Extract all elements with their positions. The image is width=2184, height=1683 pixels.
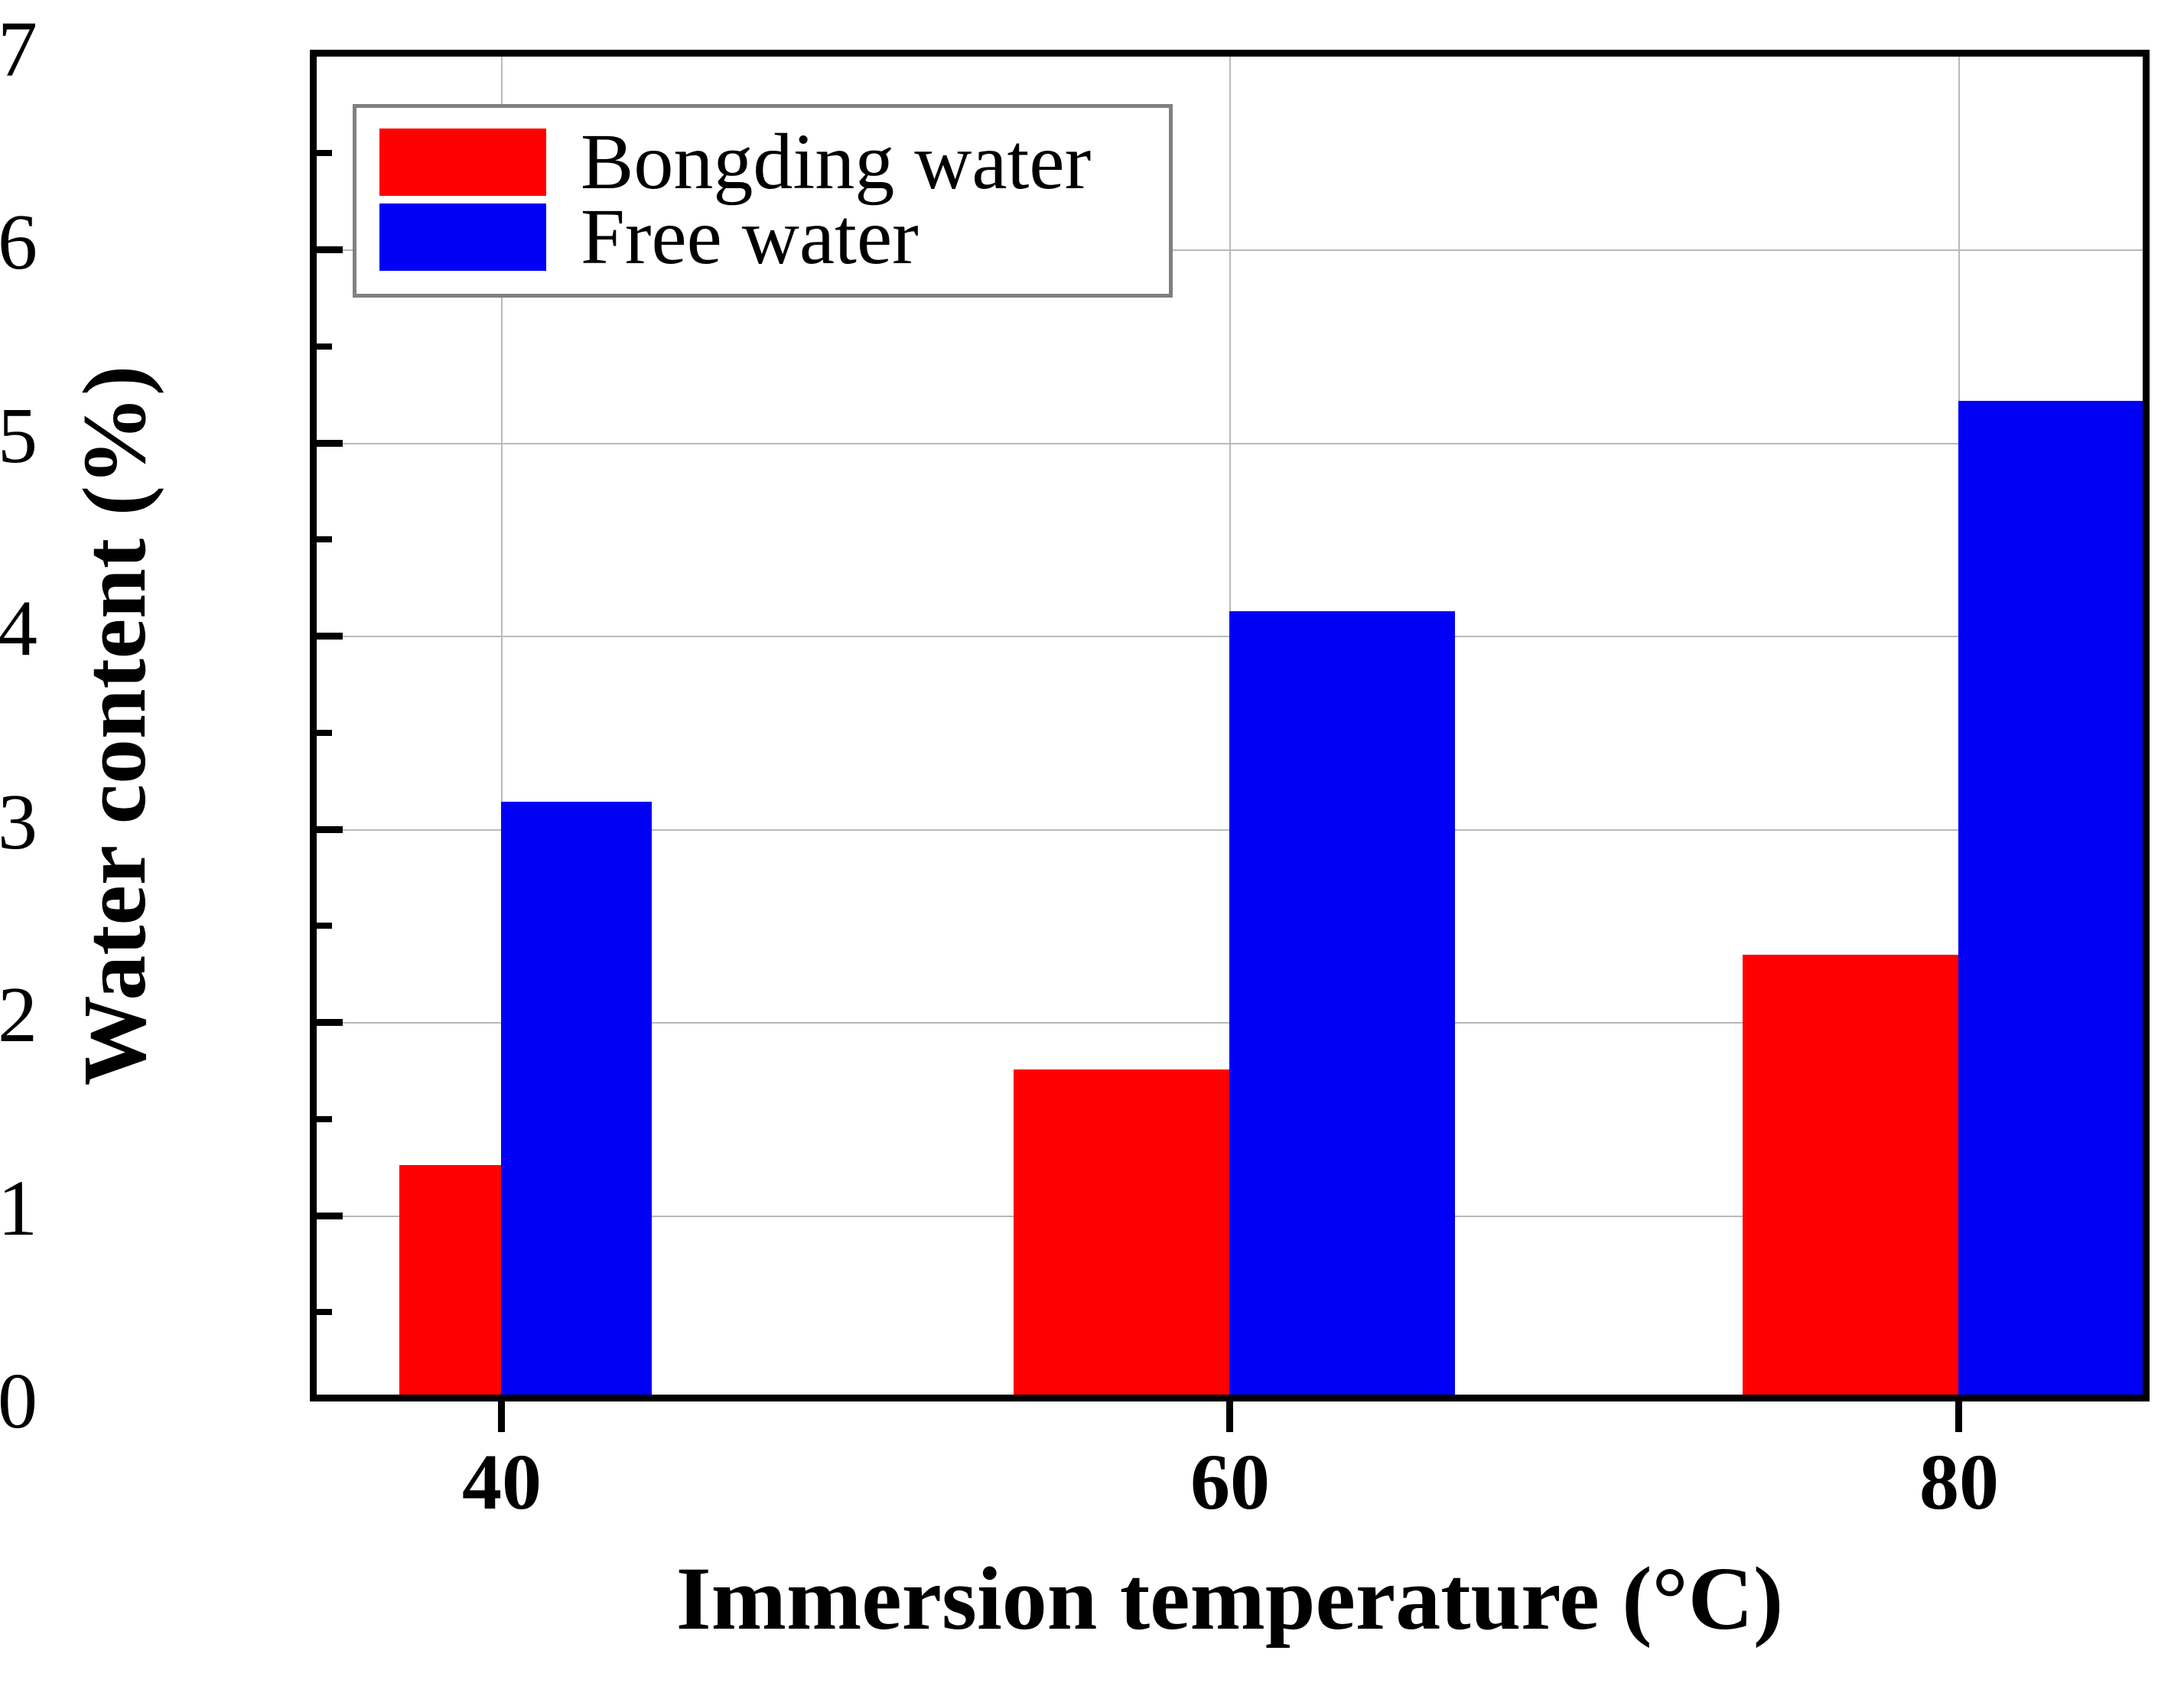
legend-label-bonding-water: Bongding water — [581, 122, 1091, 202]
x-axis-title: Immersion temperature (°C) — [310, 1547, 2150, 1651]
plot-area: Bongding water Free water — [310, 50, 2150, 1401]
y-tick-mark-0.5 — [317, 440, 343, 447]
bar-bonding-water-60 — [1014, 1069, 1229, 1395]
x-tick-80 — [1955, 1401, 1962, 1432]
red-swatch-icon — [379, 129, 546, 196]
bar-free-water-40 — [501, 802, 652, 1395]
y-tick-mark-0.6 — [317, 246, 343, 253]
y-tick-label-0.7: 0.7 — [0, 10, 37, 90]
y-tick-label-0.4: 0.4 — [0, 589, 37, 669]
x-tick-label-40: 40 — [462, 1443, 542, 1522]
y-axis-title: Water content (%) — [57, 50, 172, 1401]
y-tick-mark-0.2 — [317, 1019, 343, 1026]
y-tick-label-0.0: 0.0 — [0, 1362, 37, 1441]
y-tick-mark-0.4 — [317, 633, 343, 640]
plot-inner: Bongding water Free water — [317, 57, 2143, 1395]
y-tick-label-0.1: 0.1 — [0, 1169, 37, 1248]
y-tick-label-0.5: 0.5 — [0, 396, 37, 476]
bar-bonding-water-40 — [399, 1165, 501, 1395]
y-tick-label-0.2: 0.2 — [0, 975, 37, 1055]
y-tick-mark-0.35 — [317, 730, 332, 736]
x-tick-40 — [498, 1401, 505, 1432]
legend-item-bonding-water: Bongding water — [379, 125, 1169, 200]
y-tick-mark-0.25 — [317, 923, 332, 929]
y-tick-mark-0.05 — [317, 1309, 332, 1315]
chart-figure: Water content (%) 0.7 0.6 0.5 0.4 0.3 0.… — [0, 0, 2184, 1683]
blue-swatch-icon — [379, 203, 546, 271]
bar-free-water-80 — [1958, 401, 2143, 1395]
y-tick-mark-0.15 — [317, 1116, 332, 1122]
bar-free-water-60 — [1229, 611, 1455, 1395]
x-tick-label-80: 80 — [1919, 1443, 1999, 1522]
bar-bonding-water-80 — [1743, 955, 1958, 1395]
y-tick-label-0.6: 0.6 — [0, 203, 37, 282]
y-tick-mark-0.45 — [317, 536, 332, 542]
y-tick-label-0.3: 0.3 — [0, 783, 37, 862]
y-tick-mark-0.55 — [317, 343, 332, 350]
x-tick-label-60: 60 — [1190, 1443, 1270, 1522]
legend-item-free-water: Free water — [379, 200, 1169, 275]
legend-label-free-water: Free water — [581, 197, 919, 277]
y-tick-mark-0.1 — [317, 1213, 343, 1219]
legend: Bongding water Free water — [353, 104, 1173, 298]
y-tick-mark-0.65 — [317, 150, 332, 156]
x-tick-60 — [1226, 1401, 1233, 1432]
y-tick-mark-0.3 — [317, 826, 343, 833]
